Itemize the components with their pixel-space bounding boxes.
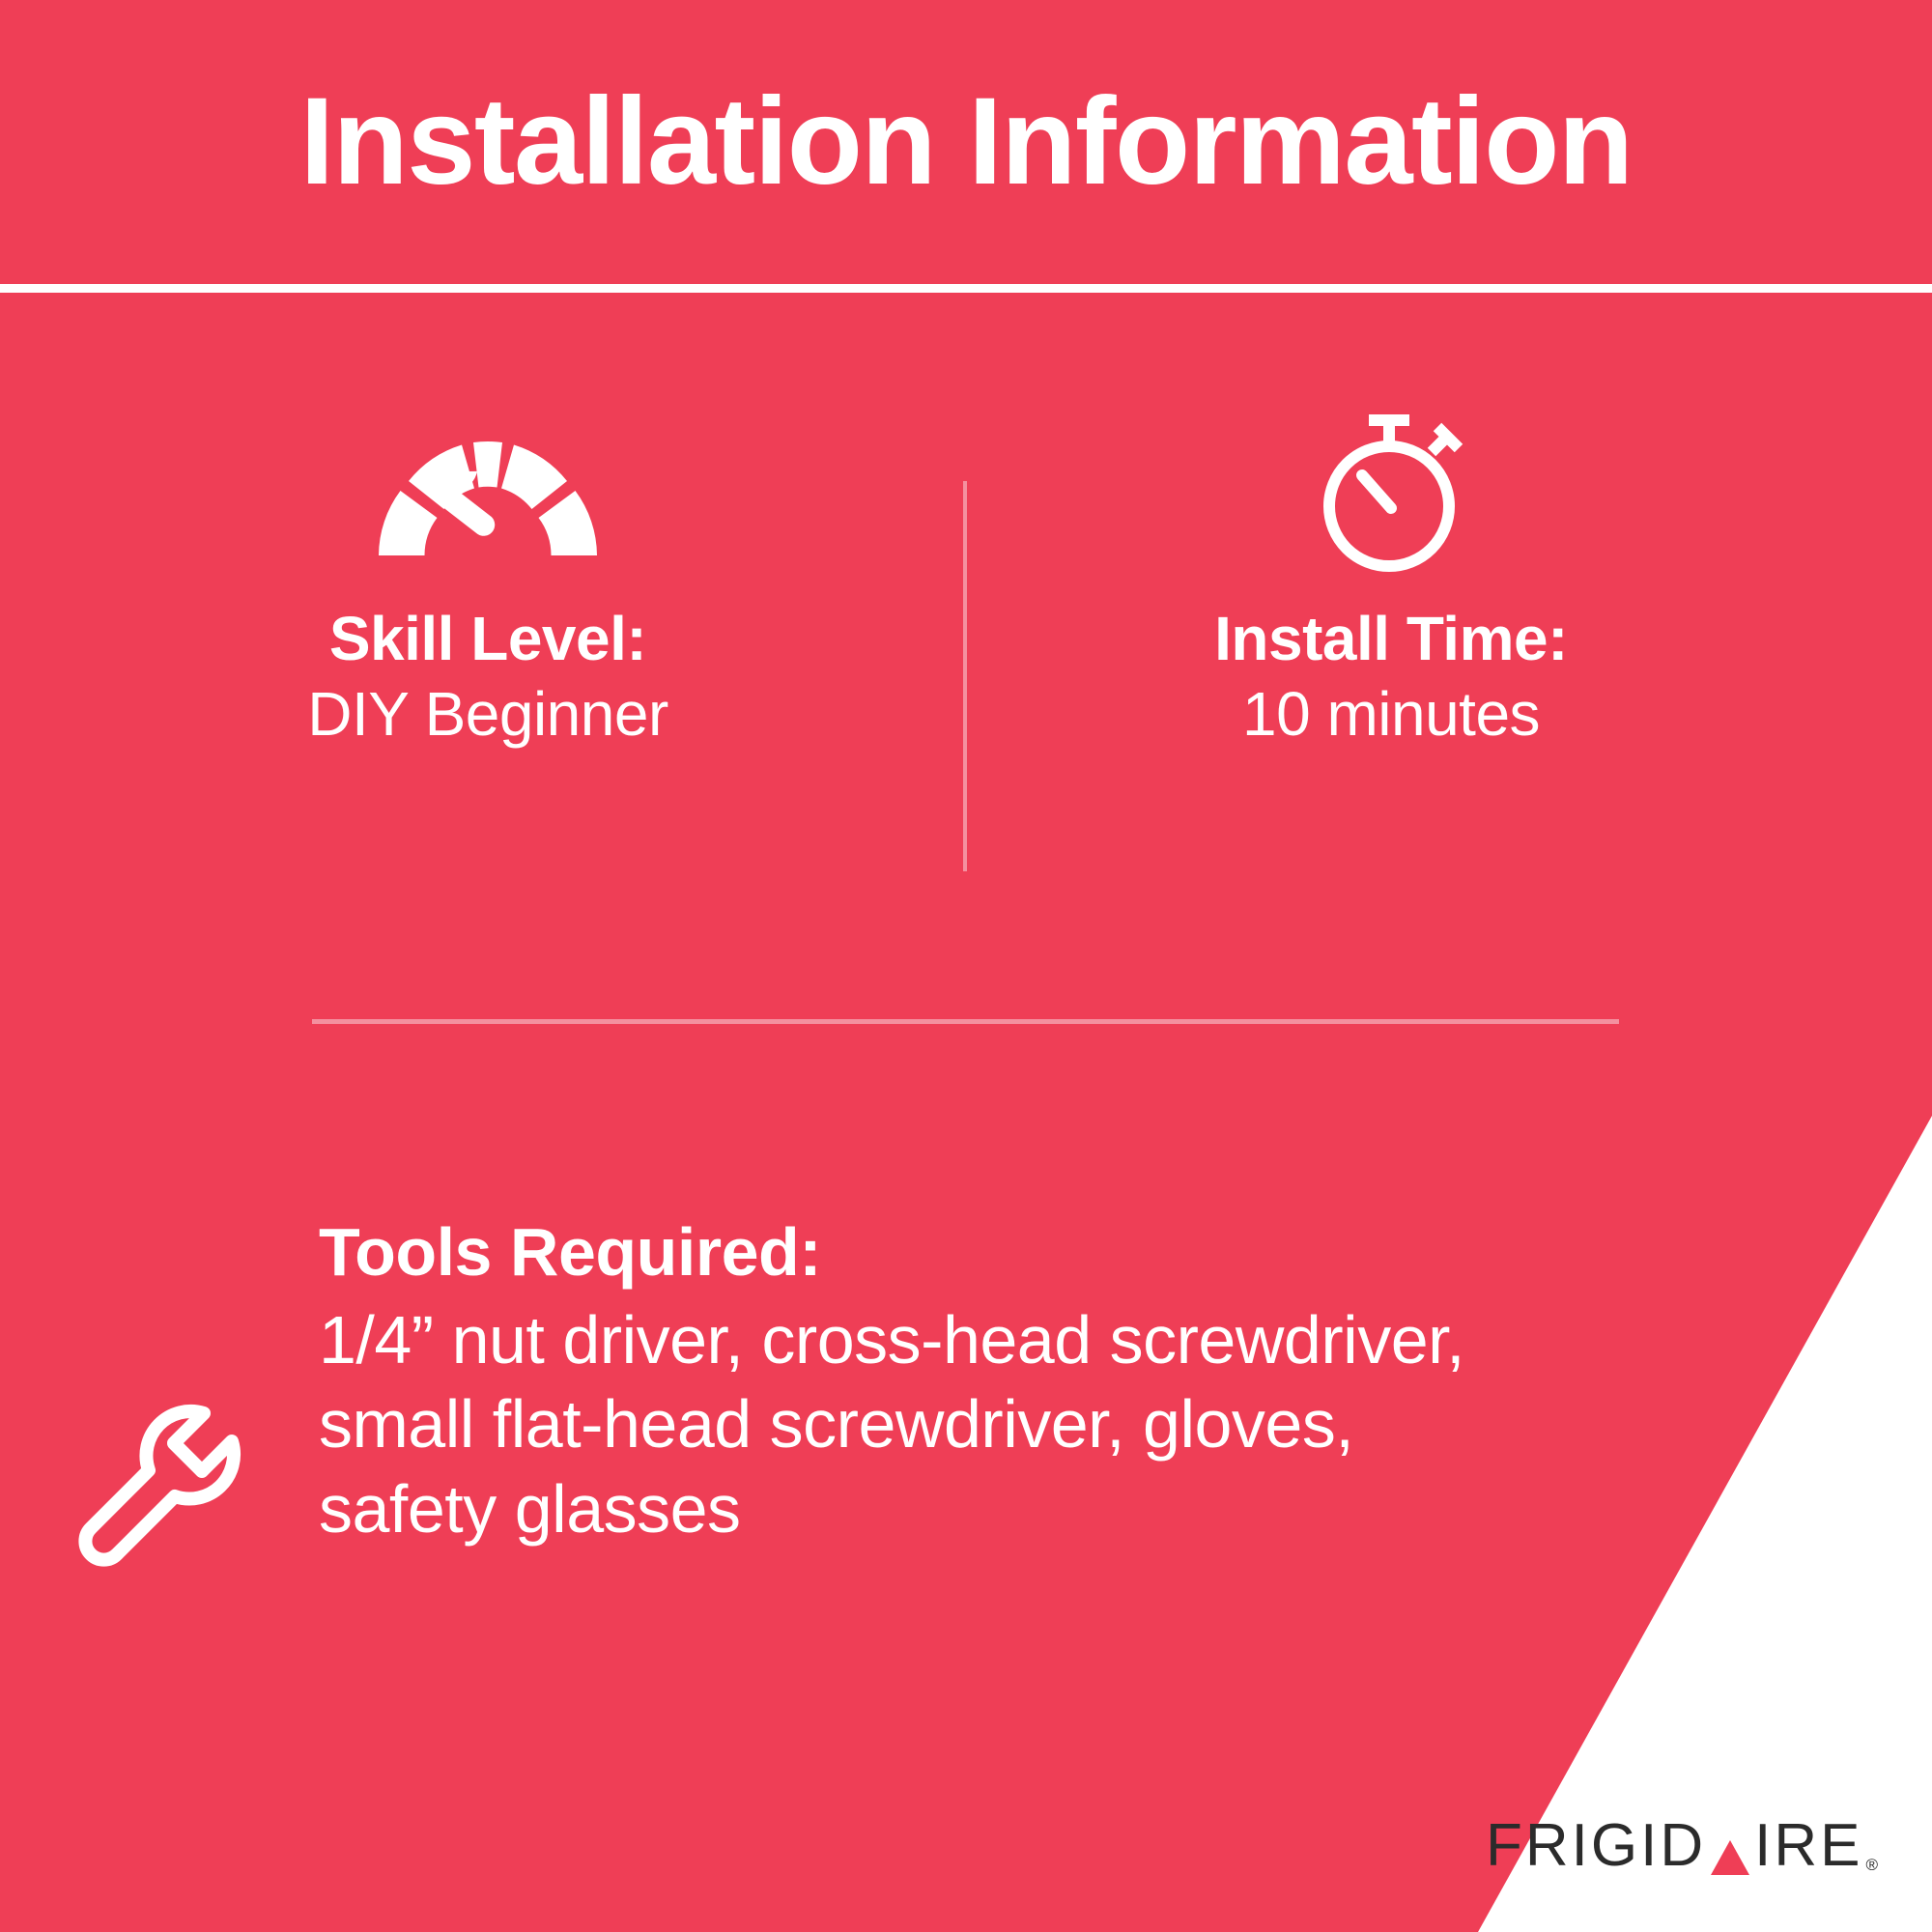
header-banner: Installation Information (0, 0, 1932, 284)
install-time-label: Install Time: (1214, 601, 1568, 676)
page-title: Installation Information (299, 80, 1632, 204)
skill-gauge-icon (377, 406, 599, 580)
header-divider (0, 284, 1932, 293)
wrench-icon (0, 1212, 319, 1584)
install-time-value: 10 minutes (1242, 676, 1540, 752)
frigidaire-logo: FRIGID IRE ® (1486, 1816, 1878, 1876)
stat-install-time: Install Time: 10 minutes (976, 406, 1806, 752)
tools-required-list: 1/4” nut driver, cross-head screwdriver,… (319, 1298, 1468, 1552)
triangle-a-icon (1710, 1828, 1750, 1866)
tools-required-section: Tools Required: 1/4” nut driver, cross-h… (0, 1212, 1932, 1584)
horizontal-divider (312, 1019, 1619, 1024)
logo-text-second: IRE (1754, 1816, 1862, 1876)
stat-skill-level: Skill Level: DIY Beginner (72, 406, 903, 752)
installation-information-card: Installation Information (0, 0, 1932, 1932)
skill-level-label: Skill Level: (329, 601, 646, 676)
logo-wordmark: FRIGID IRE (1486, 1816, 1862, 1876)
skill-level-value: DIY Beginner (307, 676, 668, 752)
logo-text-first: FRIGID (1486, 1816, 1706, 1876)
vertical-divider (963, 481, 967, 871)
tools-text-block: Tools Required: 1/4” nut driver, cross-h… (319, 1212, 1932, 1551)
tools-required-heading: Tools Required: (319, 1212, 1584, 1293)
registered-trademark-mark: ® (1865, 1857, 1878, 1873)
stopwatch-icon (1314, 406, 1468, 580)
